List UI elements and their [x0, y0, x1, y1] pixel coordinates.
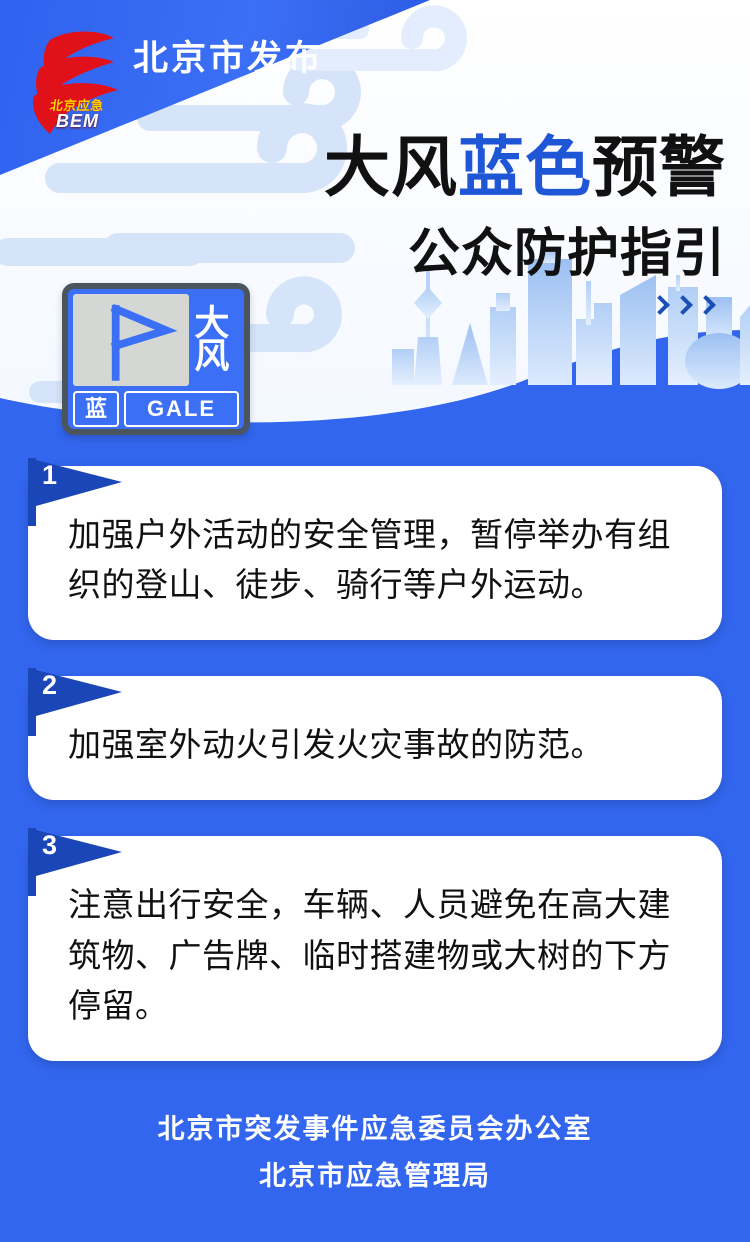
pennant-badge-2: 2	[22, 664, 134, 738]
chevron-right-icon-1	[653, 296, 666, 318]
pennant-flag-icon	[22, 664, 134, 738]
footer: 北京市突发事件应急委员会办公室 北京市应急管理局	[0, 1106, 750, 1201]
chevron-right-icon-2	[676, 296, 689, 318]
pennant-flag-icon	[22, 824, 134, 898]
footer-line-2: 北京市应急管理局	[0, 1153, 750, 1200]
footer-line-1: 北京市突发事件应急委员会办公室	[0, 1106, 750, 1153]
banner-title: 北京市发布	[133, 30, 323, 81]
page-subtitle: 公众防护指引	[408, 228, 726, 280]
gale-warning-sign: 大风 蓝 GALE	[62, 283, 250, 435]
title-suffix: 预警	[592, 130, 726, 204]
chevron-right-icon-3	[699, 296, 712, 318]
guideline-card-2: 2 加强室外动火引发火灾事故的防范。	[28, 676, 722, 800]
pennant-badge-1: 1	[22, 454, 134, 528]
card-text-1: 加强户外活动的安全管理，暂停举办有组织的登山、徒步、骑行等户外运动。	[68, 510, 688, 610]
card-text-2: 加强室外动火引发火灾事故的防范。	[68, 720, 688, 770]
pennant-flag-icon	[22, 454, 134, 528]
guideline-card-list: 1 加强户外活动的安全管理，暂停举办有组织的登山、徒步、骑行等户外运动。 2 加…	[0, 466, 750, 1097]
warning-poster: 北京市发布 北京应急 BEM 大风蓝色预警 公众防护指引	[0, 0, 750, 1242]
sign-flag-panel	[73, 294, 189, 386]
sign-bottom-row: 蓝 GALE	[73, 391, 239, 427]
logo-name-en: BEM	[56, 111, 99, 132]
chevron-group	[653, 296, 712, 318]
card-number-2: 2	[42, 672, 57, 699]
sign-level-cn: 蓝	[73, 391, 119, 427]
title-accent: 蓝色	[458, 130, 592, 204]
title-prefix: 大风	[324, 130, 458, 204]
wind-flag-icon	[73, 294, 189, 386]
page-title: 大风蓝色预警	[324, 134, 726, 200]
bem-logo: 北京应急 BEM	[22, 22, 130, 134]
card-number-3: 3	[42, 832, 57, 859]
guideline-card-1: 1 加强户外活动的安全管理，暂停举办有组织的登山、徒步、骑行等户外运动。	[28, 466, 722, 640]
card-text-3: 注意出行安全，车辆、人员避免在高大建筑物、广告牌、临时搭建物或大树的下方停留。	[68, 880, 688, 1030]
card-number-1: 1	[42, 462, 57, 489]
sign-level-en: GALE	[124, 391, 239, 427]
pennant-badge-3: 3	[22, 824, 134, 898]
sign-gale-chars: 大风	[194, 294, 239, 386]
guideline-card-3: 3 注意出行安全，车辆、人员避免在高大建筑物、广告牌、临时搭建物或大树的下方停留…	[28, 836, 722, 1060]
sign-top-row: 大风	[73, 294, 239, 386]
